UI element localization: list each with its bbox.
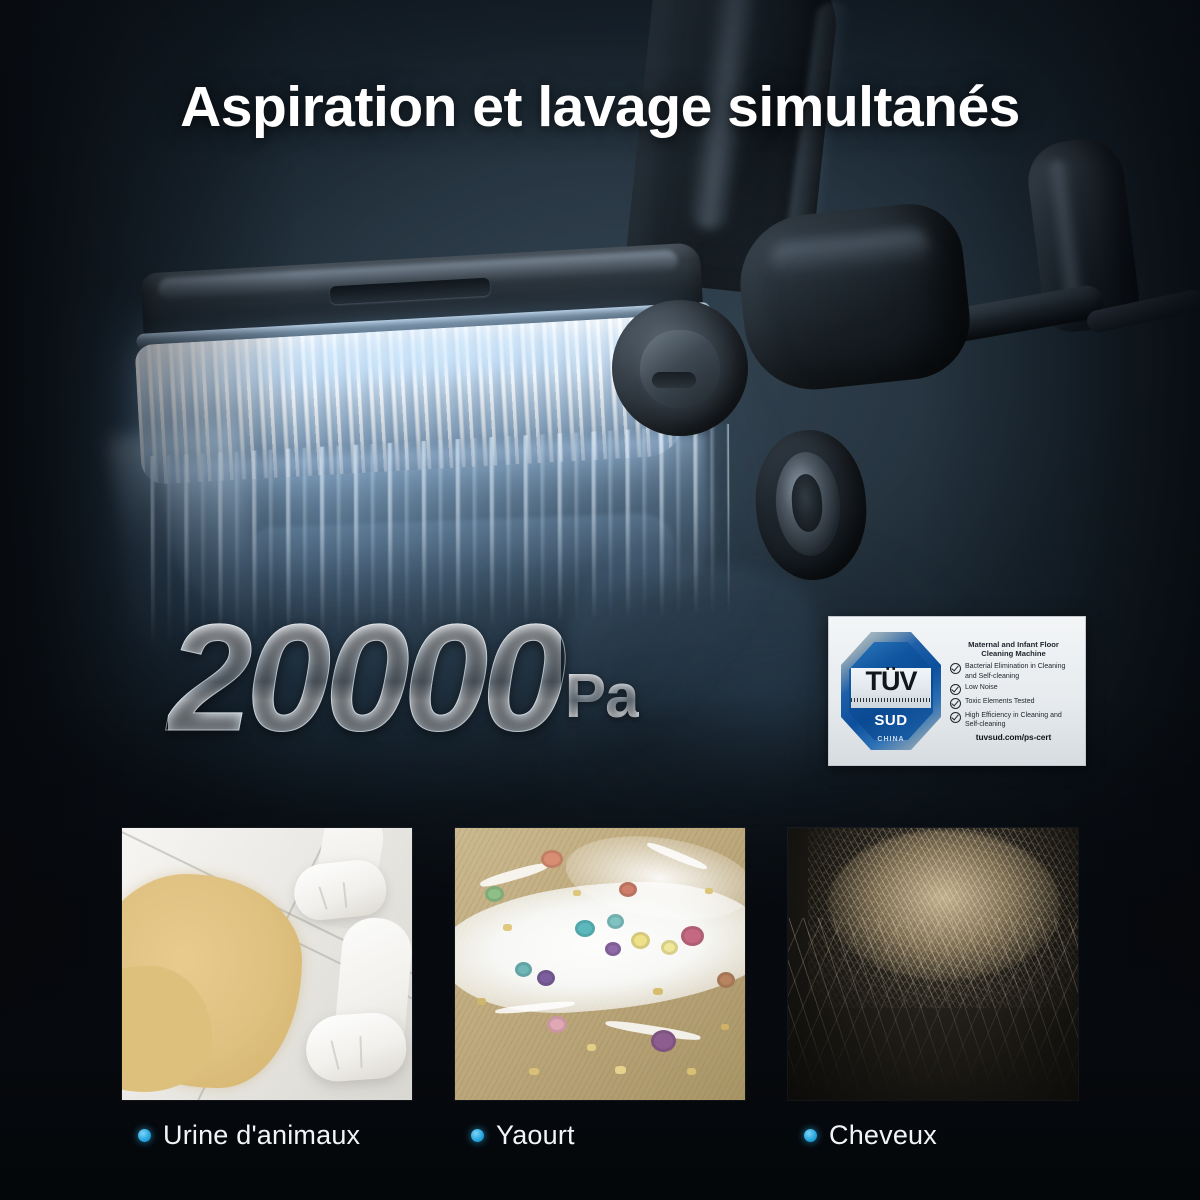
check-icon — [950, 712, 961, 723]
tuv-logo-country: CHINA — [835, 736, 947, 743]
suction-power-unit: Pa — [565, 666, 639, 728]
suction-power-callout: 20000 Pa — [168, 612, 639, 746]
bullet-dot-icon — [471, 1129, 484, 1142]
tuv-certification-badge: TÜV SUD CHINA Maternal and Infant Floor … — [828, 616, 1086, 766]
cereal-piece — [575, 920, 595, 937]
list-item: Low Noise — [950, 683, 1077, 695]
crumb — [615, 1066, 626, 1074]
hair-loose-strands — [788, 918, 1078, 1098]
cereal-piece — [651, 1030, 676, 1052]
cereal-piece — [619, 882, 637, 897]
crumb — [705, 888, 713, 894]
check-icon — [950, 698, 961, 709]
tuv-logo-sub: SUD — [835, 712, 947, 729]
crumb — [477, 998, 486, 1005]
tuv-logo-hairline — [851, 698, 931, 702]
crumb — [503, 924, 512, 931]
crumb — [687, 1068, 696, 1075]
crumb — [587, 1044, 596, 1051]
cereal-piece — [541, 850, 563, 868]
crumb — [653, 988, 663, 995]
caption-label: Cheveux — [829, 1120, 937, 1151]
cereal-piece — [537, 970, 555, 986]
cereal-piece — [515, 962, 532, 977]
list-item: High Efficiency in Cleaning and Self-cle… — [950, 711, 1077, 729]
cereal-piece — [717, 972, 735, 988]
dog-paw-lower — [304, 1011, 408, 1084]
mess-thumbnail-hair — [788, 828, 1078, 1100]
check-icon — [950, 663, 961, 674]
cereal-piece — [681, 926, 704, 946]
tuv-benefit-label: Bacterial Elimination in Cleaning and Se… — [965, 662, 1077, 680]
tuv-benefit-label: High Efficiency in Cleaning and Self-cle… — [965, 711, 1077, 729]
caption-yogurt: Yaourt — [455, 1120, 745, 1151]
caption-label: Yaourt — [496, 1120, 575, 1151]
mess-thumbnail-yogurt — [455, 828, 745, 1100]
caption-hair: Cheveux — [788, 1120, 1078, 1151]
tuv-certificate-url: tuvsud.com/ps-cert — [950, 732, 1077, 742]
crumb — [573, 890, 581, 896]
page-title: Aspiration et lavage simultanés — [0, 74, 1200, 140]
cereal-piece — [605, 942, 621, 956]
tuv-benefit-label: Toxic Elements Tested — [965, 697, 1035, 706]
tuv-logo-word: TÜV — [835, 668, 947, 695]
tuv-benefit-list: Bacterial Elimination in Cleaning and Se… — [950, 662, 1077, 729]
crumb — [529, 1068, 539, 1075]
mess-thumbnail-urine — [122, 828, 412, 1100]
suction-power-value: 20000 — [168, 612, 561, 746]
cereal-piece — [661, 940, 678, 955]
list-item: Bacterial Elimination in Cleaning and Se… — [950, 662, 1077, 680]
cereal-piece — [485, 886, 504, 902]
bullet-dot-icon — [804, 1129, 817, 1142]
mess-type-captions: Urine d'animaux Yaourt Cheveux — [0, 1120, 1200, 1151]
product-feature-banner: Aspiration et lavage simultanés 20000 Pa… — [0, 0, 1200, 1200]
cereal-piece — [547, 1016, 567, 1033]
bullet-dot-icon — [138, 1129, 151, 1142]
cereal-piece — [607, 914, 624, 929]
caption-urine: Urine d'animaux — [122, 1120, 412, 1151]
cereal-piece — [631, 932, 650, 949]
crumb — [721, 1024, 729, 1030]
tuv-badge-heading: Maternal and Infant Floor Cleaning Machi… — [950, 640, 1077, 659]
tuv-benefit-label: Low Noise — [965, 683, 998, 692]
check-icon — [950, 684, 961, 695]
list-item: Toxic Elements Tested — [950, 697, 1077, 709]
caption-label: Urine d'animaux — [163, 1120, 360, 1151]
tuv-sud-logo-icon: TÜV SUD CHINA — [835, 624, 947, 758]
mess-type-thumbnails — [0, 828, 1200, 1100]
tuv-badge-text: Maternal and Infant Floor Cleaning Machi… — [947, 640, 1079, 743]
